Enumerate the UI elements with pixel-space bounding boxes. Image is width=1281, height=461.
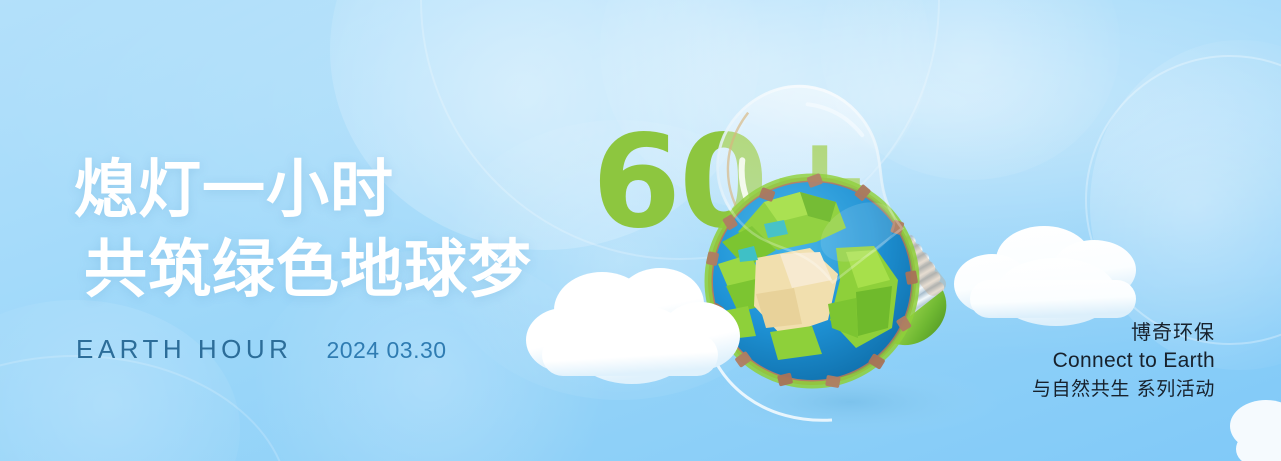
brand-tagline-en: Connect to Earth: [1032, 346, 1215, 376]
event-date: 2024 03.30: [326, 337, 446, 364]
headline-block: 熄灯一小时 共筑绿色地球梦: [74, 150, 532, 310]
background-arc: [0, 355, 290, 461]
brand-block: 博奇环保 Connect to Earth 与自然共生 系列活动: [1032, 318, 1215, 403]
background-blob: [0, 300, 240, 461]
brand-tagline-cn: 与自然共生 系列活动: [1032, 376, 1215, 403]
subline-block: EARTH HOUR 2024 03.30: [76, 334, 447, 365]
campaign-name-en: EARTH HOUR: [76, 334, 292, 365]
lightbulb-with-earth-illustration: [660, 36, 1060, 456]
earth-hour-banner: 60+: [0, 0, 1281, 461]
background-arc: [1085, 55, 1281, 345]
headline-line-2: 共筑绿色地球梦: [84, 230, 532, 310]
cloud-corner-icon: [1222, 392, 1281, 461]
brand-company-name: 博奇环保: [1032, 318, 1215, 346]
headline-line-1: 熄灯一小时: [74, 150, 532, 230]
